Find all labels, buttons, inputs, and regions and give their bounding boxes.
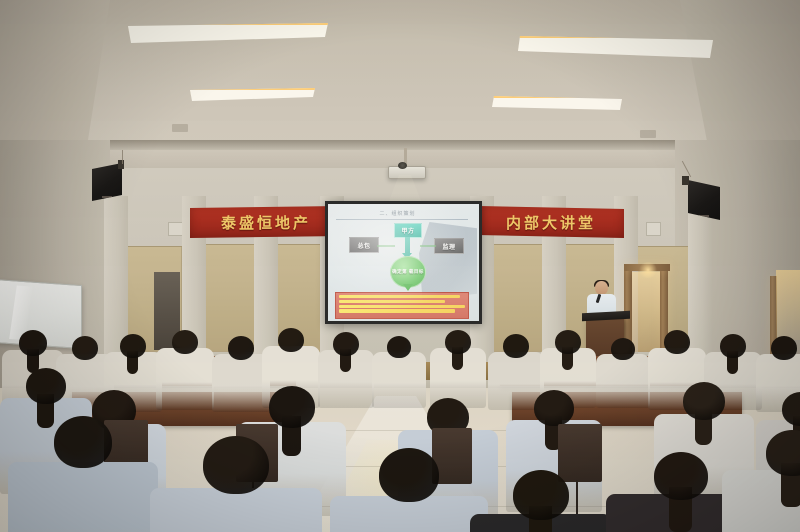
audience-member-front-row	[150, 436, 322, 532]
slide-connector-right	[420, 245, 436, 247]
projection-screen: 二、组织策划 甲方 总包 监理 确定第 载目标	[328, 204, 479, 321]
speaker-bracket-left	[118, 160, 124, 169]
ceiling-vent	[640, 130, 656, 138]
person-head	[72, 336, 98, 360]
person-head	[54, 416, 112, 468]
slide-node-general-contractor: 总包	[349, 237, 379, 253]
slide-node-supervisor: 监理	[434, 238, 464, 254]
ceiling-vent	[172, 124, 188, 132]
banner-left-text: 泰盛恒地产	[221, 212, 311, 233]
person-head	[611, 338, 635, 360]
person-torso	[596, 354, 650, 408]
person-head	[203, 436, 269, 494]
slide-note-line	[339, 295, 460, 298]
person-torso	[150, 488, 322, 532]
projector-lens	[398, 162, 407, 169]
person-head	[19, 330, 47, 356]
slide-background-photo	[419, 222, 477, 300]
person-head	[333, 332, 359, 356]
person-head	[503, 334, 529, 358]
banner-right-text: 内部大讲堂	[506, 212, 596, 233]
person-head	[654, 452, 708, 500]
person-head	[172, 330, 198, 354]
speaker-wire-left	[122, 150, 123, 164]
person-head	[513, 470, 569, 520]
person-head	[555, 330, 581, 354]
slide-node-party-a: 甲方	[394, 223, 422, 238]
conference-room-photo: 泰盛恒地产 内部大讲堂 二、组织策划 甲方 总包 监理 确定第 载目标	[0, 0, 800, 532]
audience-member-front-row	[330, 448, 488, 532]
wall-outlet	[646, 222, 661, 236]
wall-outlet	[168, 222, 183, 236]
presenter-head	[595, 281, 608, 295]
person-head	[664, 330, 690, 354]
person-head	[683, 382, 725, 420]
person-head	[278, 328, 304, 352]
audience-member-front-row	[470, 470, 612, 532]
ceiling-projector	[388, 166, 426, 179]
slide-connector-left	[377, 245, 395, 247]
slide-arrow-down	[405, 237, 410, 253]
person-head	[387, 336, 411, 358]
banner-right: 内部大讲堂	[478, 206, 624, 238]
projection-screen-frame: 二、组织策划 甲方 总包 监理 确定第 载目标	[325, 201, 482, 324]
audience-member-front-row	[8, 416, 158, 532]
audience-member-front-row	[722, 430, 800, 532]
person-head	[26, 368, 66, 404]
person-head	[534, 390, 574, 426]
person-head	[379, 448, 439, 502]
person-head	[445, 330, 471, 354]
slide-title-rule	[336, 219, 468, 220]
slide-note-line	[339, 309, 455, 312]
slide-title: 二、组织策划	[340, 209, 455, 218]
slide-note-line	[339, 305, 465, 308]
far-right-warm-light	[776, 270, 800, 340]
speaker-bracket-right	[682, 176, 689, 185]
audience-member-back-row	[596, 338, 650, 414]
person-head	[269, 386, 315, 428]
person-head	[120, 334, 146, 358]
door-warm-lamp	[638, 262, 658, 278]
person-head	[228, 336, 254, 360]
slide-note-box	[335, 292, 469, 319]
person-head	[720, 334, 746, 358]
banner-left: 泰盛恒地产	[190, 206, 342, 238]
slide-note-line	[339, 300, 445, 303]
wall-speaker-right	[688, 180, 720, 220]
person-torso	[8, 462, 158, 532]
person-head	[771, 336, 797, 360]
slide-arrow-down-2	[403, 284, 413, 291]
